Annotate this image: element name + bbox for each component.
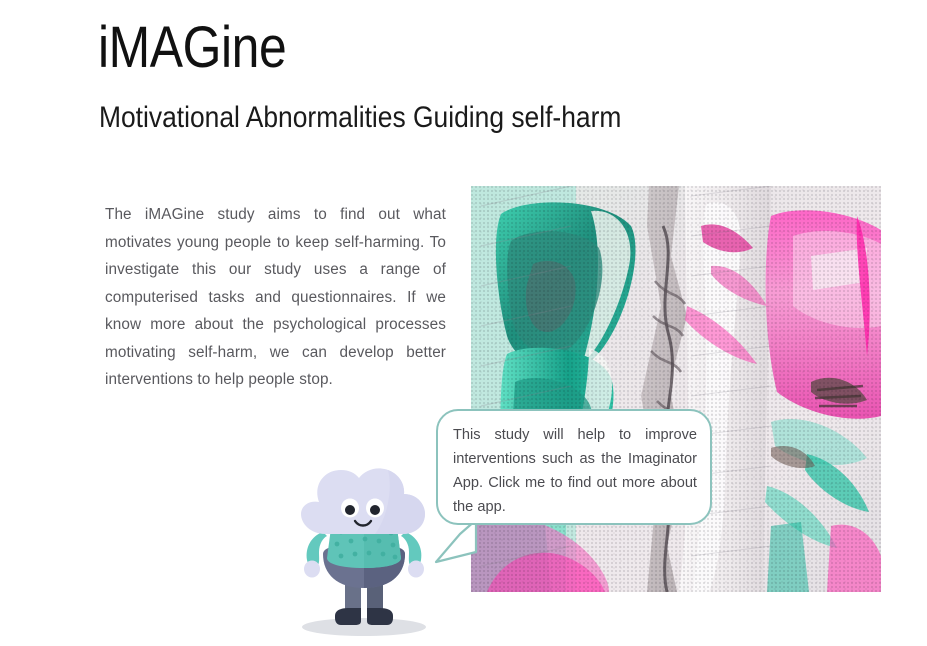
page-title: iMAGine	[98, 16, 286, 80]
speech-bubble[interactable]: This study will help to improve interven…	[436, 409, 712, 525]
page-subtitle: Motivational Abnormalities Guiding self-…	[99, 100, 621, 136]
intro-paragraph: The iMAGine study aims to find out what …	[105, 201, 446, 394]
cloud-mascot[interactable]	[283, 466, 445, 641]
artwork-texture-overlay	[471, 186, 881, 592]
speech-bubble-text: This study will help to improve interven…	[453, 423, 697, 519]
cloud-mascot-icon	[283, 466, 445, 641]
page-root: iMAGine Motivational Abnormalities Guidi…	[0, 0, 927, 641]
artwork-image	[471, 186, 881, 592]
